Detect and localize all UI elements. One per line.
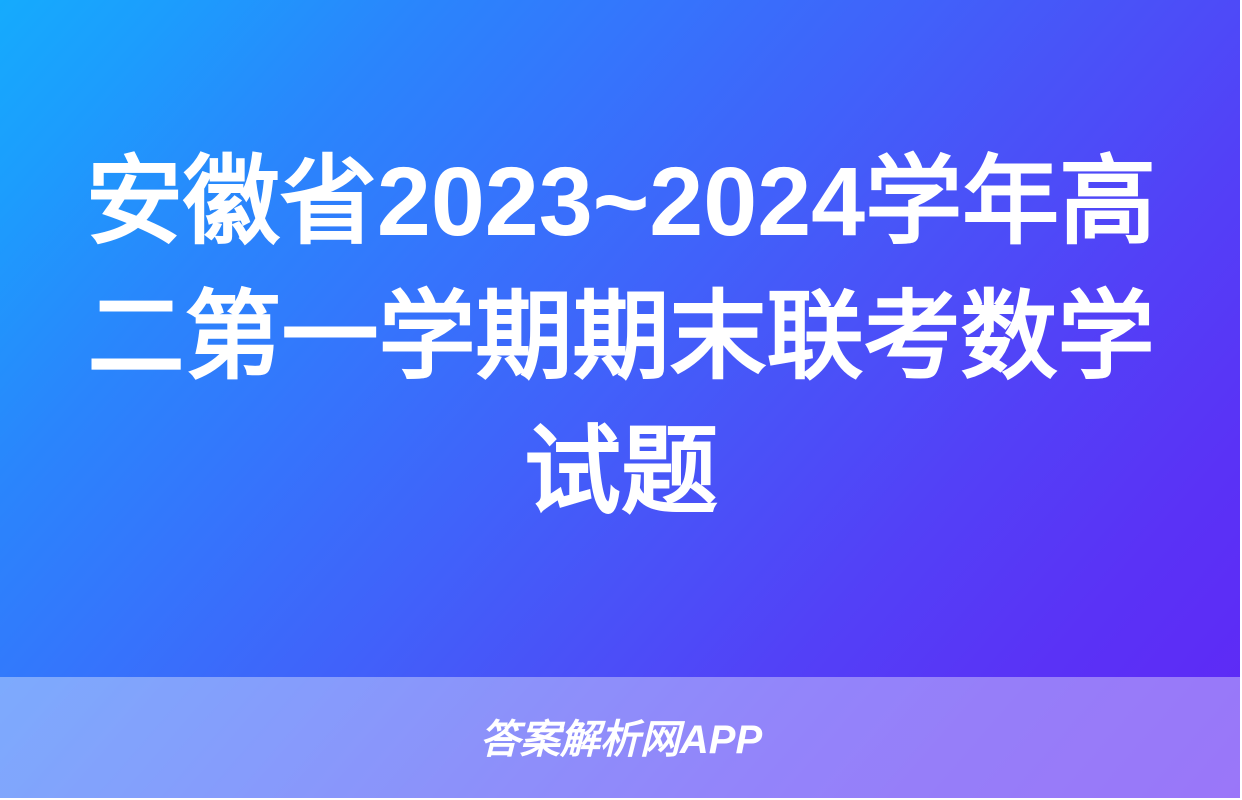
app-brand-watermark: 答案解析网APP [480,720,762,760]
footer-watermark-band: 答案解析网APP [0,677,1242,800]
title-block: 安徽省2023~2024学年高二第一学期期末联考数学试题 [0,0,1242,677]
page-title: 安徽省2023~2024学年高二第一学期期末联考数学试题 [76,134,1166,539]
exam-title-card: 安徽省2023~2024学年高二第一学期期末联考数学试题 答案解析网APP [0,0,1242,800]
